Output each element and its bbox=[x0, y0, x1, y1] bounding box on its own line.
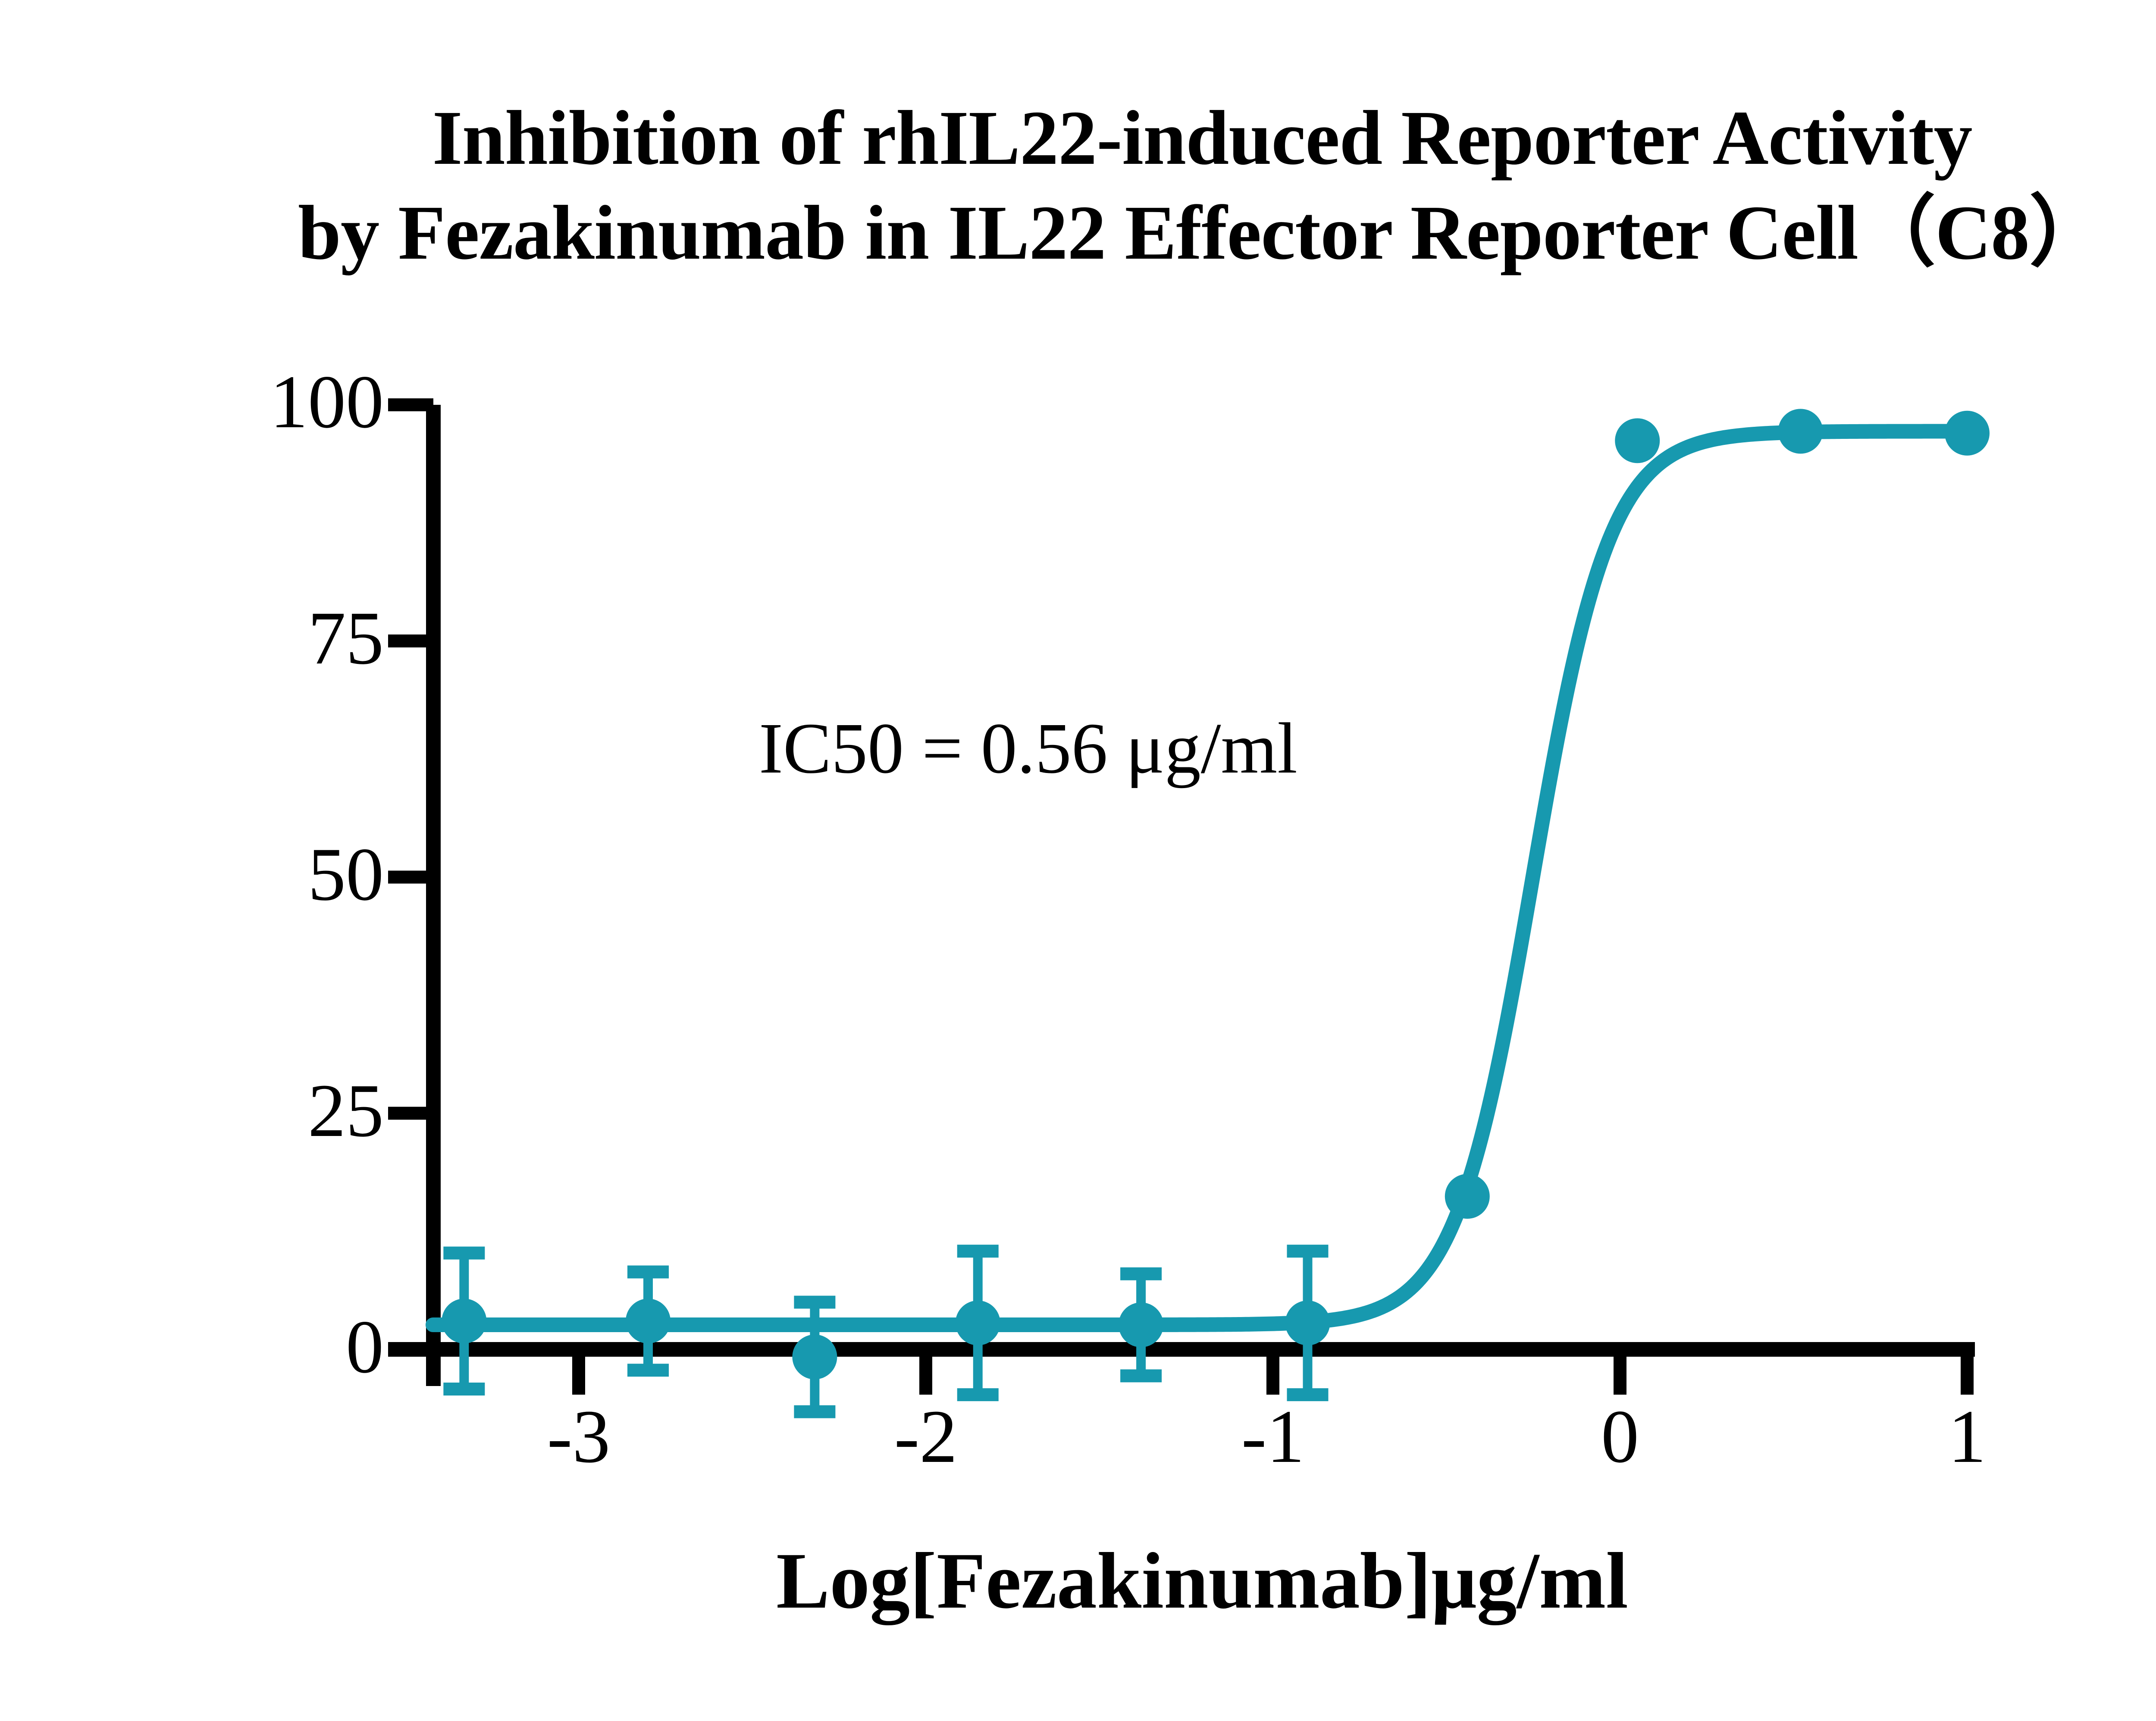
data-series bbox=[433, 409, 1990, 1411]
data-points bbox=[442, 409, 1990, 1379]
data-point bbox=[1615, 418, 1660, 463]
chart-figure: Inhibition of rhIL22-induced Reporter Ac… bbox=[0, 0, 2156, 1721]
fit-curve bbox=[433, 431, 1967, 1325]
plot-area bbox=[0, 0, 2156, 1721]
data-point bbox=[1945, 411, 1990, 456]
data-point bbox=[956, 1301, 1000, 1346]
data-point bbox=[1778, 409, 1823, 454]
data-point bbox=[626, 1299, 671, 1343]
data-point bbox=[1445, 1174, 1490, 1219]
data-point bbox=[1285, 1301, 1330, 1346]
data-point bbox=[442, 1299, 486, 1343]
data-point bbox=[792, 1335, 837, 1380]
data-point bbox=[1119, 1302, 1163, 1347]
axis-lines bbox=[388, 405, 1975, 1395]
